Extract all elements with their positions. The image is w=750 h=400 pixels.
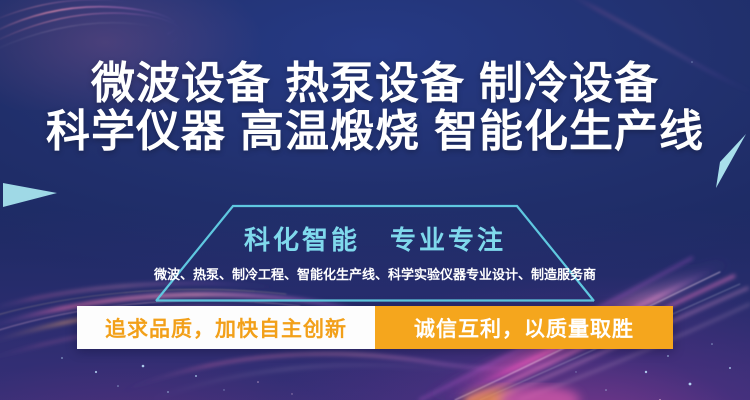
subtitle: 科化智能专业专注 <box>0 220 750 257</box>
headline-segment: 热泵设备 <box>285 59 465 108</box>
triangle-right-icon-left <box>2 168 58 213</box>
headline-segment: 智能化生产线 <box>434 107 704 156</box>
slogan-right[interactable]: 诚信互利，以质量取胜 <box>375 306 673 349</box>
headline-segment: 高温煅烧 <box>240 107 420 156</box>
description-text: 微波、热泵、制冷工程、智能化生产线、科学实验仪器专业设计、制造服务商 <box>0 264 750 283</box>
subtitle-left: 科化智能 <box>244 225 360 255</box>
headline-segment: 科学仪器 <box>46 107 226 156</box>
headline-line-1: 微波设备热泵设备制冷设备 <box>0 60 750 108</box>
slogan-bar-group: 追求品质，加快自主创新 诚信互利，以质量取胜 <box>77 306 673 349</box>
promo-banner: 微波设备热泵设备制冷设备 科学仪器高温煅烧智能化生产线 科化智能专业专注 微波、… <box>0 0 750 400</box>
headline-segment: 微波设备 <box>91 59 271 108</box>
headline-line-2: 科学仪器高温煅烧智能化生产线 <box>0 108 750 156</box>
subtitle-right: 专业专注 <box>390 225 506 255</box>
slogan-left[interactable]: 追求品质，加快自主创新 <box>77 306 375 349</box>
page-title: 微波设备热泵设备制冷设备 科学仪器高温煅烧智能化生产线 <box>0 60 750 157</box>
headline-segment: 制冷设备 <box>479 59 659 108</box>
